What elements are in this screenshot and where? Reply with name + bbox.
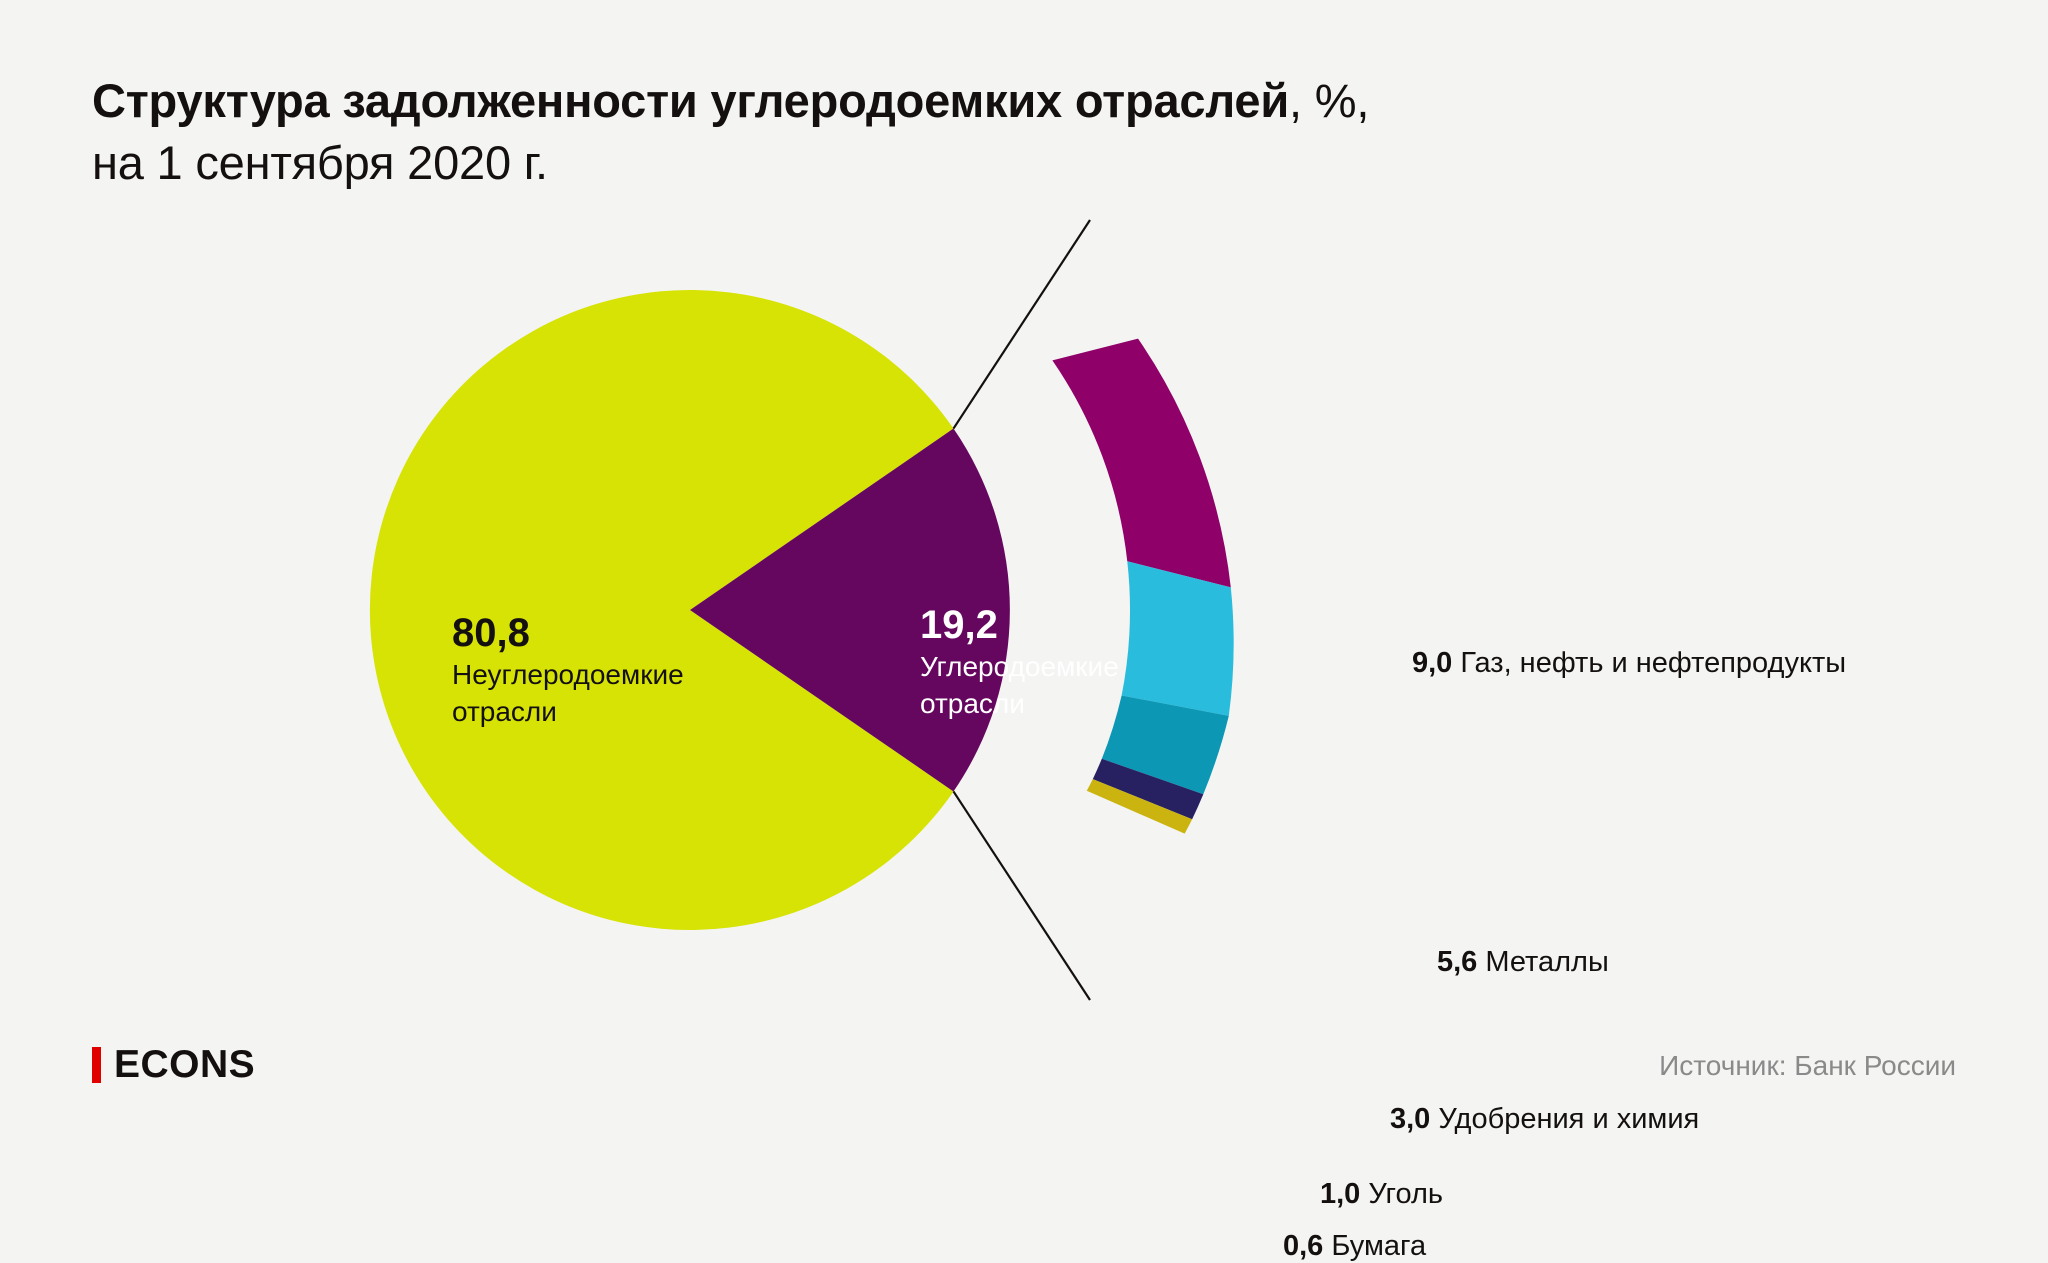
- leader-line-top: [953, 220, 1090, 429]
- callout-name-paper: Бумага: [1331, 1230, 1426, 1262]
- arc-segment-gas-oil: [1052, 339, 1230, 588]
- callout-value-coal: 1,0: [1320, 1178, 1360, 1210]
- logo-bar-icon: [92, 1047, 101, 1083]
- pie-chart: 80,8 Неуглеродоемкие отрасли 19,2 Углеро…: [0, 210, 2048, 1010]
- chart-canvas: Структура задолженности углеродоемких от…: [0, 0, 2048, 1189]
- logo-text: ECONS: [114, 1043, 255, 1087]
- callout-coal: 1,0 Уголь: [1320, 1177, 1443, 1211]
- title-line-2: на 1 сентября 2020 г.: [92, 132, 1652, 194]
- callout-value-fertilizers: 3,0: [1390, 1103, 1430, 1135]
- source-note: Источник: Банк России: [1659, 1050, 1956, 1082]
- title-line-1: Структура задолженности углеродоемких от…: [92, 70, 1652, 132]
- page-title: Структура задолженности углеродоемких от…: [92, 70, 1652, 194]
- title-main-text: Структура задолженности углеродоемких от…: [92, 74, 1289, 127]
- arc-segment-metals: [1122, 561, 1234, 716]
- callout-name-fertilizers: Удобрения и химия: [1438, 1103, 1699, 1135]
- callout-paper: 0,6 Бумага: [1283, 1229, 1426, 1263]
- title-unit-text: , %,: [1289, 74, 1369, 127]
- callout-name-gas-oil: Газ, нефть и нефтепродукты: [1460, 647, 1846, 679]
- callout-value-gas-oil: 9,0: [1412, 647, 1452, 679]
- callout-name-metals: Металлы: [1485, 946, 1608, 978]
- callout-metals: 5,6 Металлы: [1437, 945, 1609, 979]
- pie-chart-svg: [330, 210, 1460, 1010]
- callout-name-coal: Уголь: [1368, 1178, 1443, 1210]
- callout-value-metals: 5,6: [1437, 946, 1477, 978]
- econs-logo[interactable]: ECONS: [92, 1042, 255, 1088]
- callout-gas-oil: 9,0 Газ, нефть и нефтепродукты: [1412, 646, 1846, 680]
- callout-fertilizers: 3,0 Удобрения и химия: [1390, 1102, 1699, 1136]
- leader-line-bottom: [953, 791, 1090, 1000]
- callout-value-paper: 0,6: [1283, 1230, 1323, 1262]
